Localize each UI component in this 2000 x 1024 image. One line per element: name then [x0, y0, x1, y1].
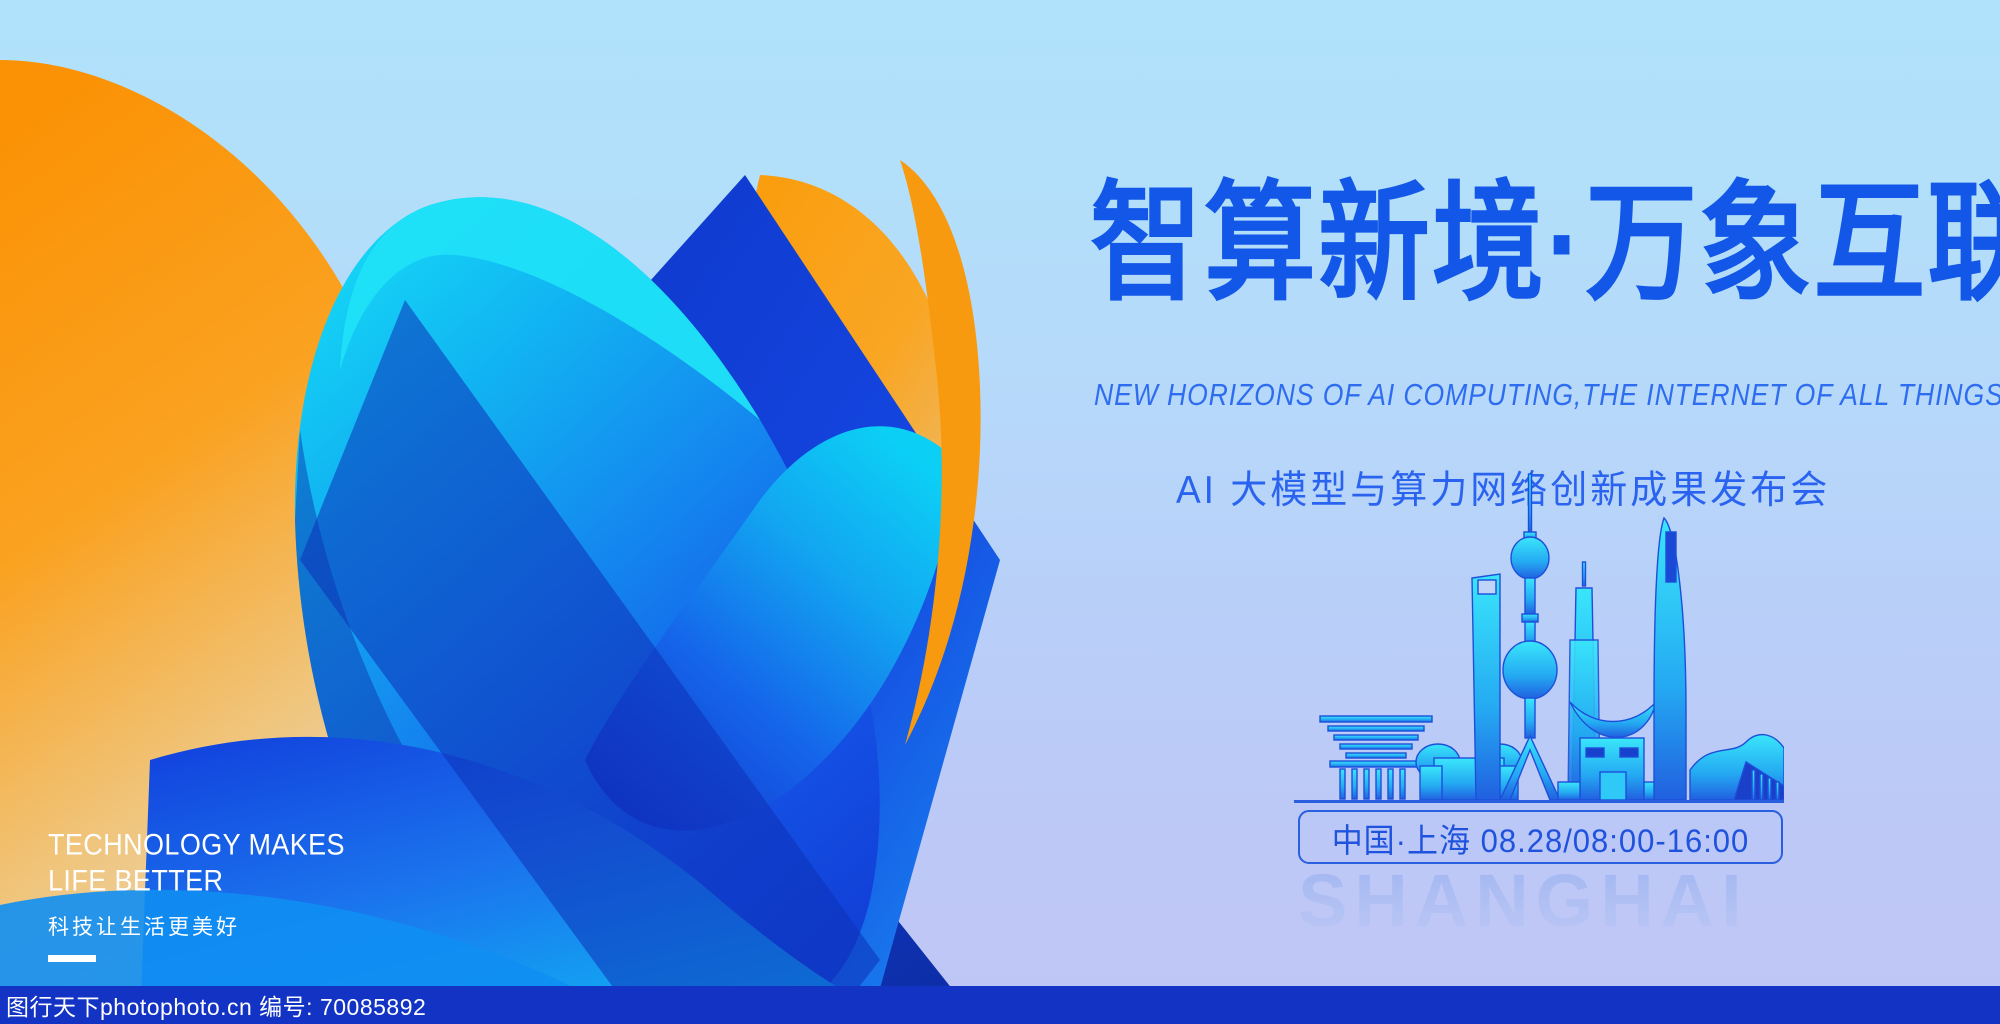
headline-column: 智算新境·万象互联 NEW HORIZONS OF AI COMPUTING,T… — [1090, 0, 1990, 1024]
shanghai-skyline-icon — [1294, 470, 1784, 820]
skyline-baseline — [1294, 800, 1784, 803]
skyline-svg — [1294, 470, 1784, 820]
slogan-line-chinese: 科技让生活更美好 — [48, 911, 468, 941]
event-info-text: 中国·上海 08.28/08:00-16:00 — [1332, 813, 1750, 861]
world-financial-center — [1472, 574, 1500, 800]
shanghai-tower — [1654, 518, 1686, 800]
event-info-badge[interactable]: 中国·上海 08.28/08:00-16:00 — [1298, 810, 1783, 864]
page-title: 智算新境·万象互联 — [1090, 178, 1970, 311]
city-watermark: SHANGHAI — [1298, 858, 1818, 943]
expo-hall — [1690, 735, 1784, 800]
footer-watermark-text: 图行天下photophoto.cn 编号: 70085892 — [0, 988, 426, 1022]
accent-bar — [48, 955, 96, 962]
exhibition-center — [1320, 716, 1432, 799]
slogan-line-2: LIFE BETTER — [48, 861, 468, 901]
slogan-line-1: TECHNOLOGY MAKES — [48, 825, 468, 865]
subtitle-english: NEW HORIZONS OF AI COMPUTING,THE INTERNE… — [1094, 378, 1971, 413]
poster-canvas: 智算新境·万象互联 NEW HORIZONS OF AI COMPUTING,T… — [0, 0, 2000, 1024]
footer-watermark-bar: 图行天下photophoto.cn 编号: 70085892 — [0, 986, 2000, 1024]
slogan-block: TECHNOLOGY MAKES LIFE BETTER 科技让生活更美好 — [48, 825, 468, 941]
